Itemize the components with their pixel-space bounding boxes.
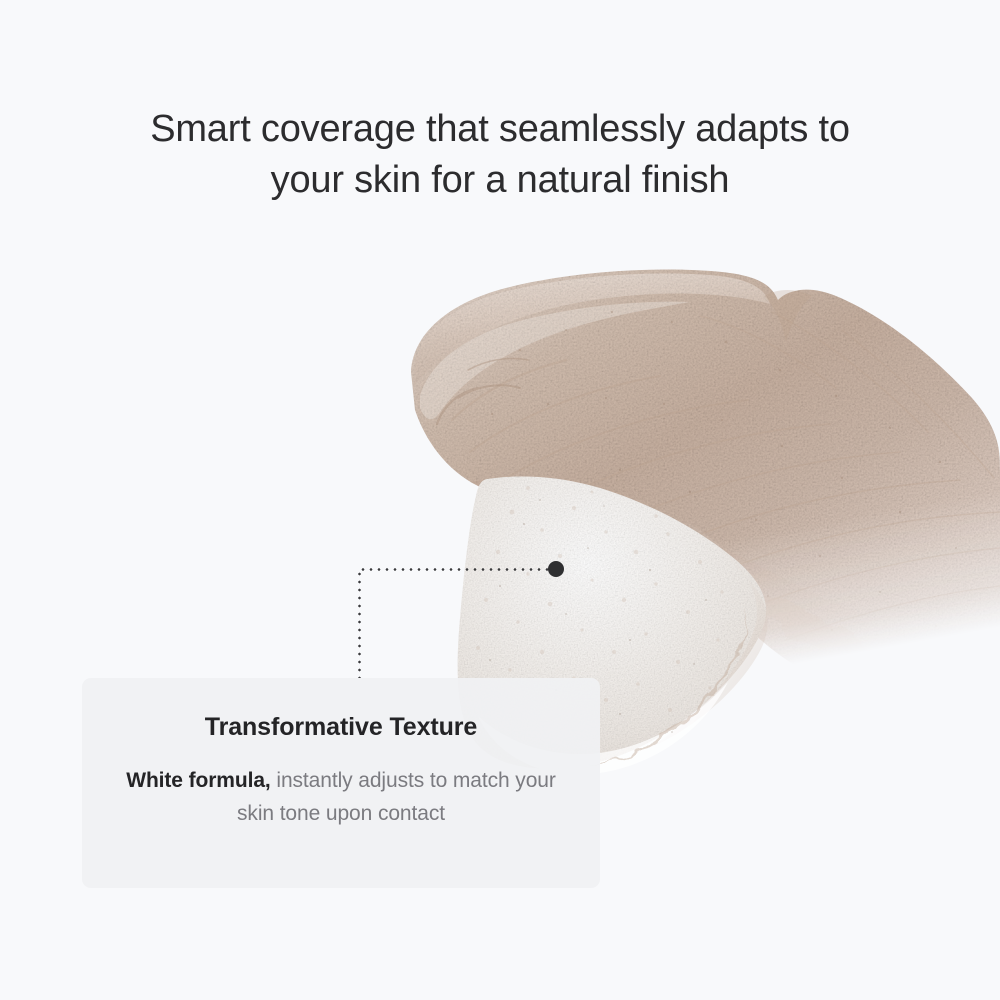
beige-smear-curl [437, 358, 528, 424]
beige-smear-body [411, 270, 1000, 700]
beige-smear-ridge [414, 274, 770, 386]
callout-line-vertical [358, 570, 361, 678]
card-body-strong: White formula, [126, 769, 270, 792]
beige-smear-speckles [491, 311, 957, 665]
card-title: Transformative Texture [112, 712, 570, 742]
beige-smear-inner-lip [420, 302, 690, 420]
card-body-rest: instantly adjusts to match your skin ton… [237, 769, 556, 825]
beige-smear-strokes [452, 312, 1000, 640]
white-blob-rim-shade [640, 508, 768, 748]
callout-line-horizontal [359, 568, 553, 571]
headline-line-2: your skin for a natural finish [0, 155, 1000, 206]
beige-smear-notch-shadow [764, 290, 812, 342]
texture-info-card: Transformative Texture White formula, in… [82, 678, 600, 888]
beige-smear-group [411, 270, 1000, 708]
card-body: White formula, instantly adjusts to matc… [112, 764, 570, 830]
beige-smear-ragged-edge [700, 560, 1000, 708]
promo-stage: Smart coverage that seamlessly adapts to… [0, 0, 1000, 1000]
beige-smear-lower-shade [470, 478, 1000, 700]
white-blob-ragged-edge [590, 604, 746, 768]
callout-dot-marker [548, 561, 564, 577]
headline-line-1: Smart coverage that seamlessly adapts to [0, 104, 1000, 155]
page-title: Smart coverage that seamlessly adapts to… [0, 104, 1000, 206]
